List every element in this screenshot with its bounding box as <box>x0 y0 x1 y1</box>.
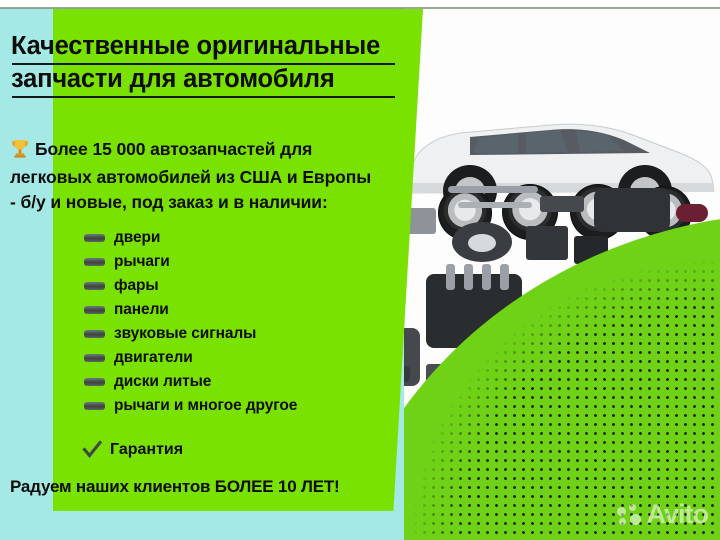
title-line-2: запчасти для автомобиля <box>11 63 411 96</box>
dash-bullet-icon <box>84 282 105 290</box>
feature-label: рычаги <box>114 253 170 271</box>
lede-line-3: - б/у и новые, под заказ и в наличии: <box>10 192 328 212</box>
list-item: рычаги <box>84 250 404 274</box>
trophy-icon <box>10 139 30 165</box>
list-item: двигатели <box>84 346 404 370</box>
avito-wordmark: Avito <box>647 501 709 528</box>
avito-logo-icon <box>617 504 643 526</box>
list-item: звуковые сигналы <box>84 322 404 346</box>
page-title: Качественные оригинальные запчасти для а… <box>11 30 411 96</box>
feature-label: фары <box>114 277 159 295</box>
dash-bullet-icon <box>84 258 105 266</box>
tagline: Радуем наших клиентов БОЛЕЕ 10 ЛЕТ! <box>10 477 340 497</box>
poster-content: Качественные оригинальные запчасти для а… <box>0 0 720 540</box>
features-list: двери рычаги фары панели звуковые сигнал… <box>84 226 404 418</box>
avito-watermark: Avito <box>617 501 709 528</box>
check-icon <box>82 440 102 460</box>
dash-bullet-icon <box>84 354 105 362</box>
dash-bullet-icon <box>84 234 105 242</box>
guarantee-label: Гарантия <box>110 441 183 459</box>
list-item: диски литые <box>84 370 404 394</box>
feature-label: двигатели <box>114 349 193 367</box>
dash-bullet-icon <box>84 378 105 386</box>
list-item: фары <box>84 274 404 298</box>
feature-label: звуковые сигналы <box>114 325 256 343</box>
list-item: рычаги и многое другое <box>84 394 404 418</box>
lede-line-1: Более 15 000 автозапчастей для <box>35 139 312 159</box>
dash-bullet-icon <box>84 402 105 410</box>
advertisement-poster: Качественные оригинальные запчасти для а… <box>0 0 720 540</box>
list-item: панели <box>84 298 404 322</box>
title-line-1: Качественные оригинальные <box>11 30 411 63</box>
feature-label: диски литые <box>114 373 211 391</box>
lede-paragraph: Более 15 000 автозапчастей для легковых … <box>10 137 410 215</box>
feature-label: панели <box>114 301 169 319</box>
dash-bullet-icon <box>84 306 105 314</box>
feature-label: двери <box>114 229 160 247</box>
list-item: двери <box>84 226 404 250</box>
guarantee-badge: Гарантия <box>82 440 183 460</box>
feature-label: рычаги и многое другое <box>114 397 297 415</box>
dash-bullet-icon <box>84 330 105 338</box>
lede-line-2: легковых автомобилей из США и Европы <box>10 167 371 187</box>
